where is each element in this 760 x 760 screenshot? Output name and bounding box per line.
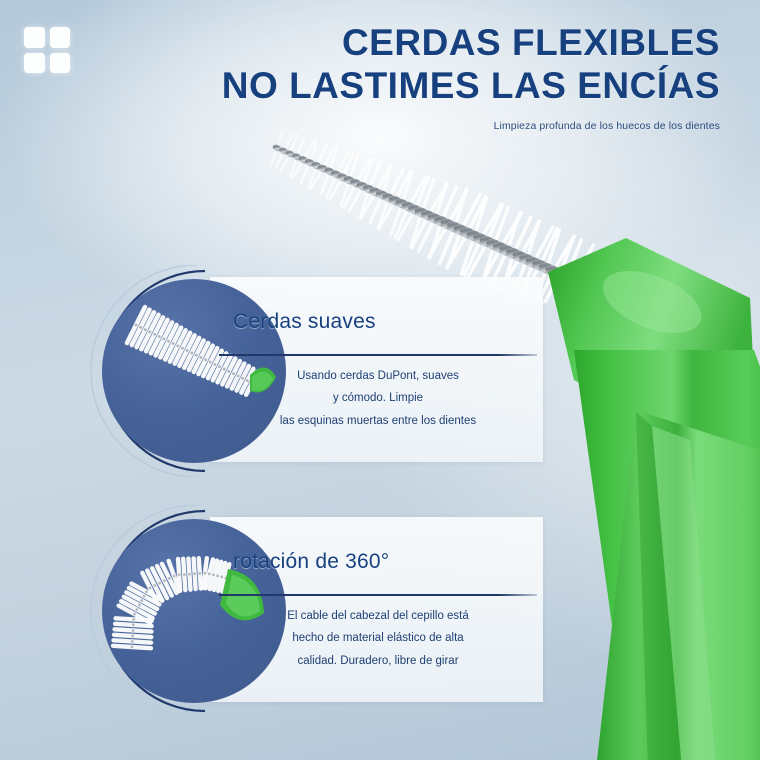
card-1-body-line-1: Usando cerdas DuPont, suaves <box>213 365 543 387</box>
grid-2x2-icon <box>24 27 70 73</box>
product-marketing-image: CERDAS FLEXIBLES NO LASTIMES LAS ENCÍAS … <box>0 0 760 760</box>
card-1-body: Usando cerdas DuPont, suaves y cómodo. L… <box>213 365 543 432</box>
card-1-divider <box>219 354 537 356</box>
headline-line-2: NO LASTIMES LAS ENCÍAS <box>160 65 720 108</box>
logo-tile-1 <box>24 27 45 48</box>
green-handle-illustration <box>540 230 760 760</box>
headline-line-1: CERDAS FLEXIBLES <box>160 22 720 65</box>
card-2-body-line-3: calidad. Duradero, libre de girar <box>213 650 543 672</box>
card-1-body-line-3: las esquinas muertas entre los dientes <box>213 410 543 432</box>
feature-card-rotacion-360: rotación de 360° El cable del cabezal de… <box>85 505 460 717</box>
card-2-body-line-2: hecho de material elástico de alta <box>213 627 543 649</box>
card-2-divider <box>219 594 537 596</box>
card-2-body: El cable del cabezal del cepillo está he… <box>213 605 543 672</box>
headline-block: CERDAS FLEXIBLES NO LASTIMES LAS ENCÍAS <box>160 22 720 108</box>
card-2-body-line-1: El cable del cabezal del cepillo está <box>213 605 543 627</box>
logo-tile-2 <box>50 27 71 48</box>
card-1-body-line-2: y cómodo. Limpie <box>213 387 543 409</box>
logo-tile-4 <box>50 53 71 74</box>
card-1-title: Cerdas suaves <box>233 310 533 334</box>
card-2-title: rotación de 360° <box>233 550 533 574</box>
logo-tile-3 <box>24 53 45 74</box>
feature-card-cerdas-suaves: Cerdas suaves Usando cerdas DuPont, suav… <box>85 265 460 477</box>
